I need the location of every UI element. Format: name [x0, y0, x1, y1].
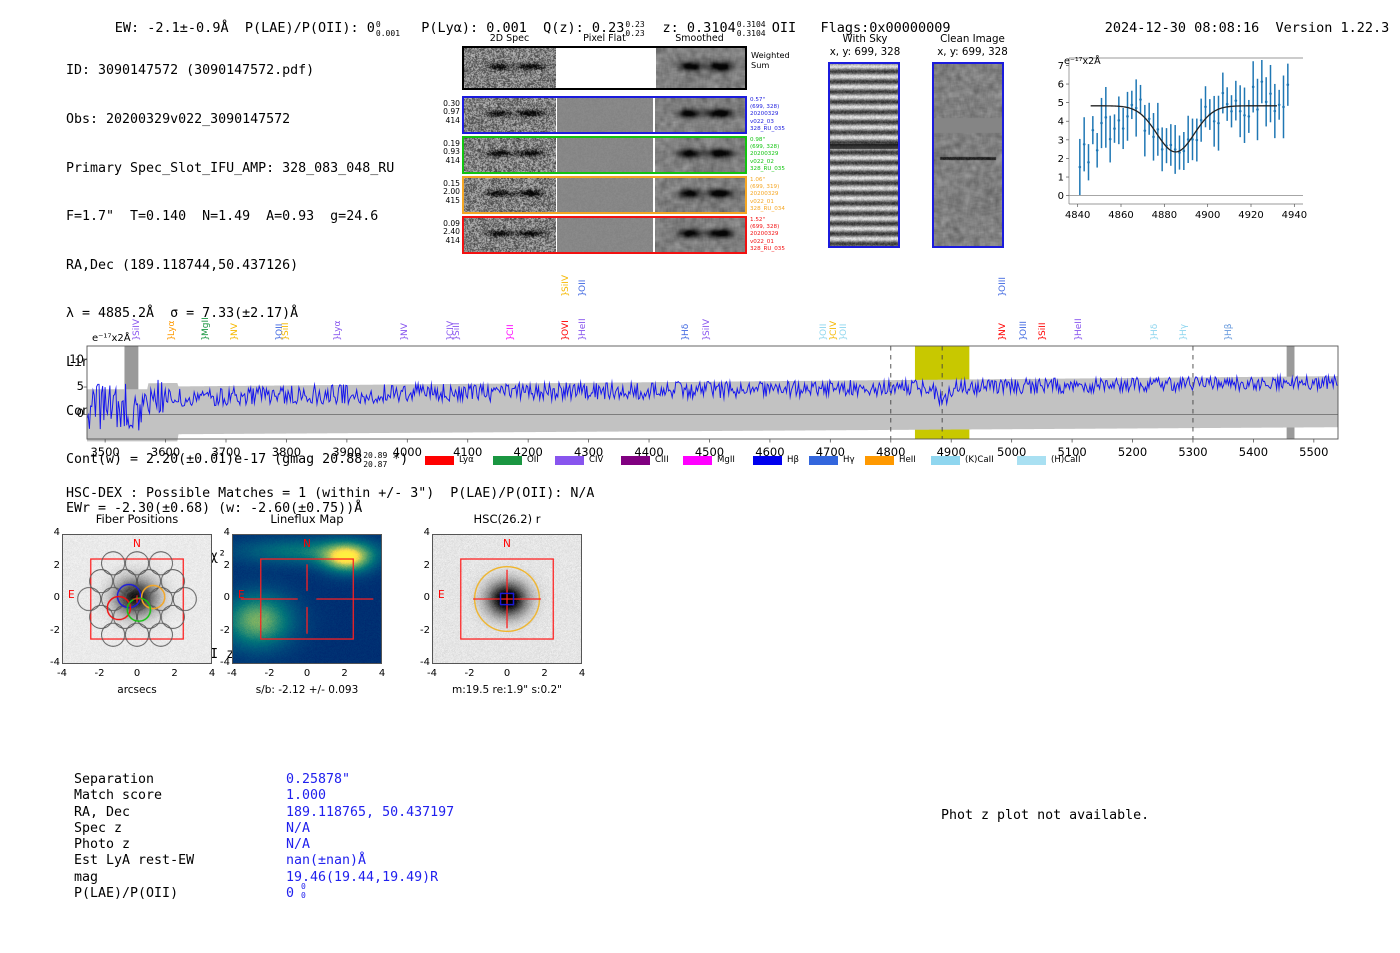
match-plae-errors: 00: [300, 886, 330, 894]
hsc-y-tick: -2: [410, 625, 430, 636]
hsc-y-tick: -4: [410, 657, 430, 668]
match-detail-value: nan(±nan)Å: [286, 853, 366, 869]
x-tick-label: 3500: [82, 445, 128, 459]
clean-image-subtitle: x, y: 699, 328: [925, 46, 1020, 59]
legend-item: HeII: [865, 455, 916, 467]
match-detail-value: 189.118765, 50.437197: [286, 805, 454, 821]
hsc-x-tick: -2: [260, 668, 280, 679]
emission-line-brace: }: [400, 335, 410, 341]
emission-line-brace: }: [702, 335, 712, 341]
emission-line-brace: }: [1224, 335, 1234, 341]
fiber-row-meta-line: 20200329: [750, 111, 798, 118]
hsc-x-tick: 4: [372, 668, 392, 679]
column-title-smoothed: Smoothed: [652, 33, 747, 44]
hsc-y-tick: 4: [210, 527, 230, 538]
fiber-row-stats: 0.092.40414: [438, 220, 460, 245]
legend-label: OII: [527, 455, 539, 465]
emission-line-brace: }: [333, 335, 343, 341]
fiber-row-meta-line: 328_RU_034: [750, 206, 798, 213]
x-tick-label: 5500: [1291, 445, 1337, 459]
match-detail-value: 0: [286, 886, 294, 902]
with-sky-title: With Sky x, y: 699, 328: [820, 33, 910, 59]
match-detail-value: 0.25878": [286, 772, 350, 788]
emission-line-brace: }: [998, 291, 1008, 297]
legend-swatch: [555, 456, 584, 465]
emission-line-label: HeII: [578, 302, 588, 336]
legend-label: MgII: [717, 455, 735, 465]
legend-swatch: [809, 456, 838, 465]
emission-line-label: NV: [400, 302, 410, 336]
info-id: ID: 3090147572 (3090147572.pdf): [66, 63, 408, 79]
hsc-x-tick: -2: [90, 668, 110, 679]
emission-line-label: Lyα: [333, 302, 343, 336]
match-detail-key: P(LAE)/P(OII): [74, 886, 178, 902]
header-timestamp: 2024-12-30 08:08:16: [1105, 20, 1259, 36]
x-tick-label: 3900: [324, 445, 370, 459]
emission-line-brace: }: [561, 335, 571, 341]
emission-line-label: OII: [819, 302, 829, 336]
with-sky-title-text: With Sky: [820, 33, 910, 46]
legend-label: Hγ: [843, 455, 855, 465]
hsc-panel-title: Fiber Positions: [52, 512, 222, 526]
emission-line-label: MgII: [201, 302, 211, 336]
x-tick-label: 4000: [384, 445, 430, 459]
fiber-row-stat: 415: [438, 197, 460, 205]
emission-line-label: Hγ: [1179, 302, 1189, 336]
emission-line-label: SiIV: [702, 302, 712, 336]
emission-line-label: HeII: [1074, 302, 1084, 336]
hsc-panel-title: Lineflux Map: [222, 512, 392, 526]
fiber-row-meta-line: (699, 328): [750, 224, 798, 231]
legend-label: HeII: [899, 455, 916, 465]
match-detail-value: 19.46(19.44,19.49)R: [286, 870, 438, 886]
y-tick-label: 0: [60, 406, 84, 420]
emission-line-label: NV: [230, 302, 240, 336]
header-meta: 2024-12-30 08:08:16 Version 1.22.3: [1056, 4, 1389, 52]
fiber-row-stats: 0.300.97414: [438, 100, 460, 125]
fiber-row-stats: 0.152.00415: [438, 180, 460, 205]
hsc-panel-caption: s/b: -2.12 +/- 0.093: [202, 684, 412, 696]
fiber-row-meta: 1.52"(699, 328)20200329v022_01328_RU_035: [750, 217, 798, 253]
emission-line-brace: }: [1150, 335, 1160, 341]
header-bar: EW: -2.1±-0.9Å P(LAE)/P(OII): 000.001 P(…: [0, 4, 1400, 26]
emission-line-label: CIV: [829, 302, 839, 336]
column-title-2dspec: 2D Spec: [462, 33, 557, 44]
fiber-row-stat: 414: [438, 237, 460, 245]
y-tick-label: 10: [60, 352, 84, 366]
fiber-row-meta-line: 328_RU_035: [750, 166, 798, 173]
emission-line-label: OII: [839, 302, 849, 336]
emission-line-brace: }: [230, 335, 240, 341]
clean-image-title-text: Clean Image: [925, 33, 1020, 46]
emission-line-label: SiII: [1038, 302, 1048, 336]
legend-label: Hβ: [787, 455, 799, 465]
legend-item: Lyα: [425, 455, 474, 467]
emission-line-brace: }: [839, 335, 849, 341]
match-detail-value: N/A: [286, 837, 310, 853]
match-detail-key: RA, Dec: [74, 805, 130, 821]
weighted-sum-row: [462, 46, 747, 90]
hsc-panel-caption: m:19.5 re:1.9" s:0.2": [402, 684, 612, 696]
emission-line-brace: }: [1038, 335, 1048, 341]
fiber-row-meta-line: 20200329: [750, 151, 798, 158]
legend-label: Lyα: [459, 455, 474, 465]
hsc-x-tick: 0: [497, 668, 517, 679]
x-tick-label: 3800: [263, 445, 309, 459]
hsc-y-tick: 4: [410, 527, 430, 538]
spectrum-plot: e⁻¹⁷x2Å SiIV}Lyα}MgII}NV}OII}SiII}Lyα}NV…: [60, 262, 1350, 472]
emission-line-brace: }: [1179, 335, 1189, 341]
x-tick-label: 5200: [1110, 445, 1156, 459]
legend-label: CIV: [589, 455, 603, 465]
hsc-y-tick: 2: [40, 560, 60, 571]
hsc-x-tick: -4: [422, 668, 442, 679]
hsc-y-tick: -4: [40, 657, 60, 668]
hsc-x-tick: 4: [572, 668, 592, 679]
fiber-row-meta: 0.98"(699, 328)20200329v022_02328_RU_035: [750, 137, 798, 173]
fiber-row-stats: 0.190.93414: [438, 140, 460, 165]
fiber-row-meta-line: v022_01: [750, 199, 798, 206]
compass-east: E: [438, 589, 445, 601]
hsc-y-tick: 0: [40, 592, 60, 603]
hsc-x-tick: 2: [165, 668, 185, 679]
fiber-row: [462, 96, 747, 134]
hsc-panel-title: HSC(26.2) r: [422, 512, 592, 526]
compass-east: E: [68, 589, 75, 601]
legend-item: (H)CaII: [1017, 455, 1081, 467]
compass-north: N: [133, 538, 141, 550]
compass-north: N: [303, 538, 311, 550]
legend-swatch: [753, 456, 782, 465]
emission-line-label: SiIV: [132, 302, 142, 336]
fiber-row-stat: 414: [438, 157, 460, 165]
legend-label: (K)CaII: [965, 455, 994, 465]
emission-line-label: Hβ: [1224, 302, 1234, 336]
hsc-panel-image: [62, 534, 212, 664]
hsc-panel-image: [432, 534, 582, 664]
match-detail-key: Est LyA rest-EW: [74, 853, 194, 869]
legend-item: CIV: [555, 455, 603, 467]
y-tick-label: 5: [60, 379, 84, 393]
info-seeing: F=1.7" T=0.140 N=1.49 A=0.93 g=24.6: [66, 209, 408, 225]
fiber-row-stat: 414: [438, 117, 460, 125]
hsc-x-tick: 2: [335, 668, 355, 679]
match-detail-key: Match score: [74, 788, 162, 804]
fiber-row-meta-line: v022_01: [750, 239, 798, 246]
line-fit-plot: e⁻¹⁷x2Å: [1040, 47, 1310, 232]
legend-item: Hβ: [753, 455, 799, 467]
fiber-row-meta-line: 1.52": [750, 217, 798, 224]
hsc-y-tick: 2: [210, 560, 230, 571]
hsc-x-tick: 0: [297, 668, 317, 679]
emission-line-label: OIII: [998, 258, 1008, 292]
legend-swatch: [865, 456, 894, 465]
hsc-x-tick: -2: [460, 668, 480, 679]
match-detail-value: 1.000: [286, 788, 326, 804]
emission-line-label: Hδ: [1150, 302, 1160, 336]
weighted-sum-label: Weighted Sum: [751, 50, 811, 70]
fiber-row: [462, 136, 747, 174]
hsc-y-tick: -2: [40, 625, 60, 636]
sky-clean-panels: With Sky x, y: 699, 328 Clean Image x, y…: [820, 33, 1020, 253]
hsc-x-tick: 0: [127, 668, 147, 679]
legend-item: (K)CaII: [931, 455, 994, 467]
fiber-row-meta-line: (699, 328): [750, 144, 798, 151]
hsc-x-tick: 2: [535, 668, 555, 679]
clean-image-title: Clean Image x, y: 699, 328: [925, 33, 1020, 59]
emission-line-brace: }: [167, 335, 177, 341]
info-obs: Obs: 20200329v022_3090147572: [66, 112, 408, 128]
report-page: EW: -2.1±-0.9Å P(LAE)/P(OII): 000.001 P(…: [0, 0, 1400, 953]
header-z-errors: 0.31040.3104: [736, 24, 772, 32]
legend-label: (H)CaII: [1051, 455, 1081, 465]
fiber-row-meta-line: 20200329: [750, 191, 798, 198]
clean-image: [932, 62, 1004, 248]
hsc-y-tick: 0: [210, 592, 230, 603]
hsc-panel-image: [232, 534, 382, 664]
fiber-row-meta-line: (699, 328): [750, 104, 798, 111]
hsc-section-title: HSC-DEX : Possible Matches = 1 (within +…: [66, 486, 594, 501]
hsc-y-tick: -2: [210, 625, 230, 636]
emission-line-brace: }: [1019, 335, 1029, 341]
emission-line-brace: }: [819, 335, 829, 341]
x-tick-label: 5400: [1230, 445, 1276, 459]
photz-message: Phot z plot not available.: [941, 808, 1149, 823]
emission-line-label: NV: [998, 302, 1008, 336]
legend-swatch: [621, 456, 650, 465]
fiber-row-meta: 1.06"(699, 319)20200329v022_01328_RU_034: [750, 177, 798, 213]
emission-line-label: SiIV: [561, 258, 571, 292]
emission-line-label: Lyα: [167, 302, 177, 336]
legend-item: MgII: [683, 455, 735, 467]
info-primary-spec: Primary Spec_Slot_IFU_AMP: 328_083_048_R…: [66, 161, 408, 177]
fiber-row-meta-line: 328_RU_035: [750, 126, 798, 133]
legend-swatch: [931, 456, 960, 465]
match-detail-key: Separation: [74, 772, 154, 788]
legend-label: CIII: [655, 455, 669, 465]
emission-line-brace: }: [681, 335, 691, 341]
emission-line-brace: }: [281, 335, 291, 341]
match-detail-key: Photo z: [74, 837, 130, 853]
emission-line-brace: }: [829, 335, 839, 341]
emission-line-brace: }: [998, 335, 1008, 341]
match-detail-key: mag: [74, 870, 98, 886]
spec2d-panel-group: 2D Spec Pixel Flat Smoothed Weighted Sum…: [440, 33, 790, 258]
header-version: Version 1.22.3: [1275, 20, 1389, 36]
emission-line-brace: }: [132, 335, 142, 341]
fiber-row-meta-line: 20200329: [750, 231, 798, 238]
emission-line-label: OVI: [561, 302, 571, 336]
legend-swatch: [493, 456, 522, 465]
with-sky-image: [828, 62, 900, 248]
x-tick-label: 3700: [203, 445, 249, 459]
fiber-row-meta-line: 1.06": [750, 177, 798, 184]
with-sky-subtitle: x, y: 699, 328: [820, 46, 910, 59]
emission-line-brace: }: [561, 291, 571, 297]
fiber-row: [462, 176, 747, 214]
spectrum-units: e⁻¹⁷x2Å: [92, 333, 131, 344]
compass-east: E: [238, 589, 245, 601]
emission-line-label: Hδ: [681, 302, 691, 336]
fiber-row-meta-line: 0.98": [750, 137, 798, 144]
match-detail-key: Spec z: [74, 821, 122, 837]
x-tick-label: 5300: [1170, 445, 1216, 459]
emission-line-label: SiII: [452, 302, 462, 336]
legend-swatch: [683, 456, 712, 465]
emission-line-brace: }: [506, 335, 516, 341]
fit-plot-units: e⁻¹⁷x2Å: [1064, 56, 1101, 67]
fiber-row-meta: 0.57"(699, 328)20200329v022_03328_RU_035: [750, 97, 798, 133]
match-detail-value: N/A: [286, 821, 310, 837]
hsc-x-tick: -4: [52, 668, 72, 679]
fiber-row-meta-line: v022_03: [750, 119, 798, 126]
legend-item: OII: [493, 455, 539, 467]
hsc-y-tick: 4: [40, 527, 60, 538]
hsc-x-tick: -4: [222, 668, 242, 679]
hsc-y-tick: 0: [410, 592, 430, 603]
hsc-y-tick: -4: [210, 657, 230, 668]
emission-line-brace: }: [201, 335, 211, 341]
hsc-y-tick: 2: [410, 560, 430, 571]
compass-north: N: [503, 538, 511, 550]
fiber-row-meta-line: 328_RU_035: [750, 246, 798, 253]
header-qz-errors: 0.230.23: [624, 24, 654, 32]
x-tick-label: 3600: [143, 445, 189, 459]
fiber-row: [462, 216, 747, 254]
emission-line-label: OIII: [1019, 302, 1029, 336]
hsc-x-tick: 4: [202, 668, 222, 679]
emission-line-label: CII: [506, 302, 516, 336]
emission-line-brace: }: [578, 335, 588, 341]
emission-line-label: SiII: [281, 302, 291, 336]
fiber-row-meta-line: v022_02: [750, 159, 798, 166]
emission-line-brace: }: [1074, 335, 1084, 341]
emission-line-label: OII: [578, 258, 588, 292]
emission-line-brace: }: [578, 291, 588, 297]
legend-item: CIII: [621, 455, 669, 467]
legend-item: Hγ: [809, 455, 855, 467]
column-title-pixelflat: Pixel Flat: [557, 33, 652, 44]
legend-swatch: [1017, 456, 1046, 465]
fiber-row-meta-line: (699, 319): [750, 184, 798, 191]
emission-line-brace: }: [452, 335, 462, 341]
fiber-row-meta-line: 0.57": [750, 97, 798, 104]
legend-swatch: [425, 456, 454, 465]
